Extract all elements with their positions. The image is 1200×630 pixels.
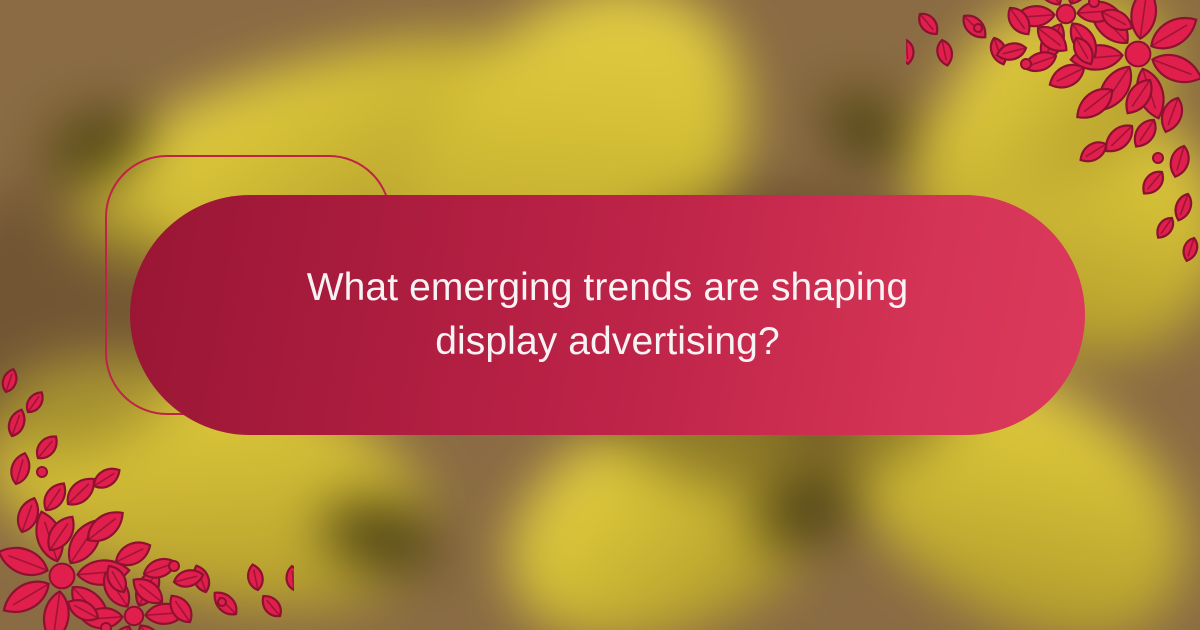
- social-card-canvas: What emerging trends are shaping display…: [0, 0, 1200, 630]
- question-text: What emerging trends are shaping display…: [278, 261, 938, 369]
- question-card: What emerging trends are shaping display…: [130, 195, 1085, 435]
